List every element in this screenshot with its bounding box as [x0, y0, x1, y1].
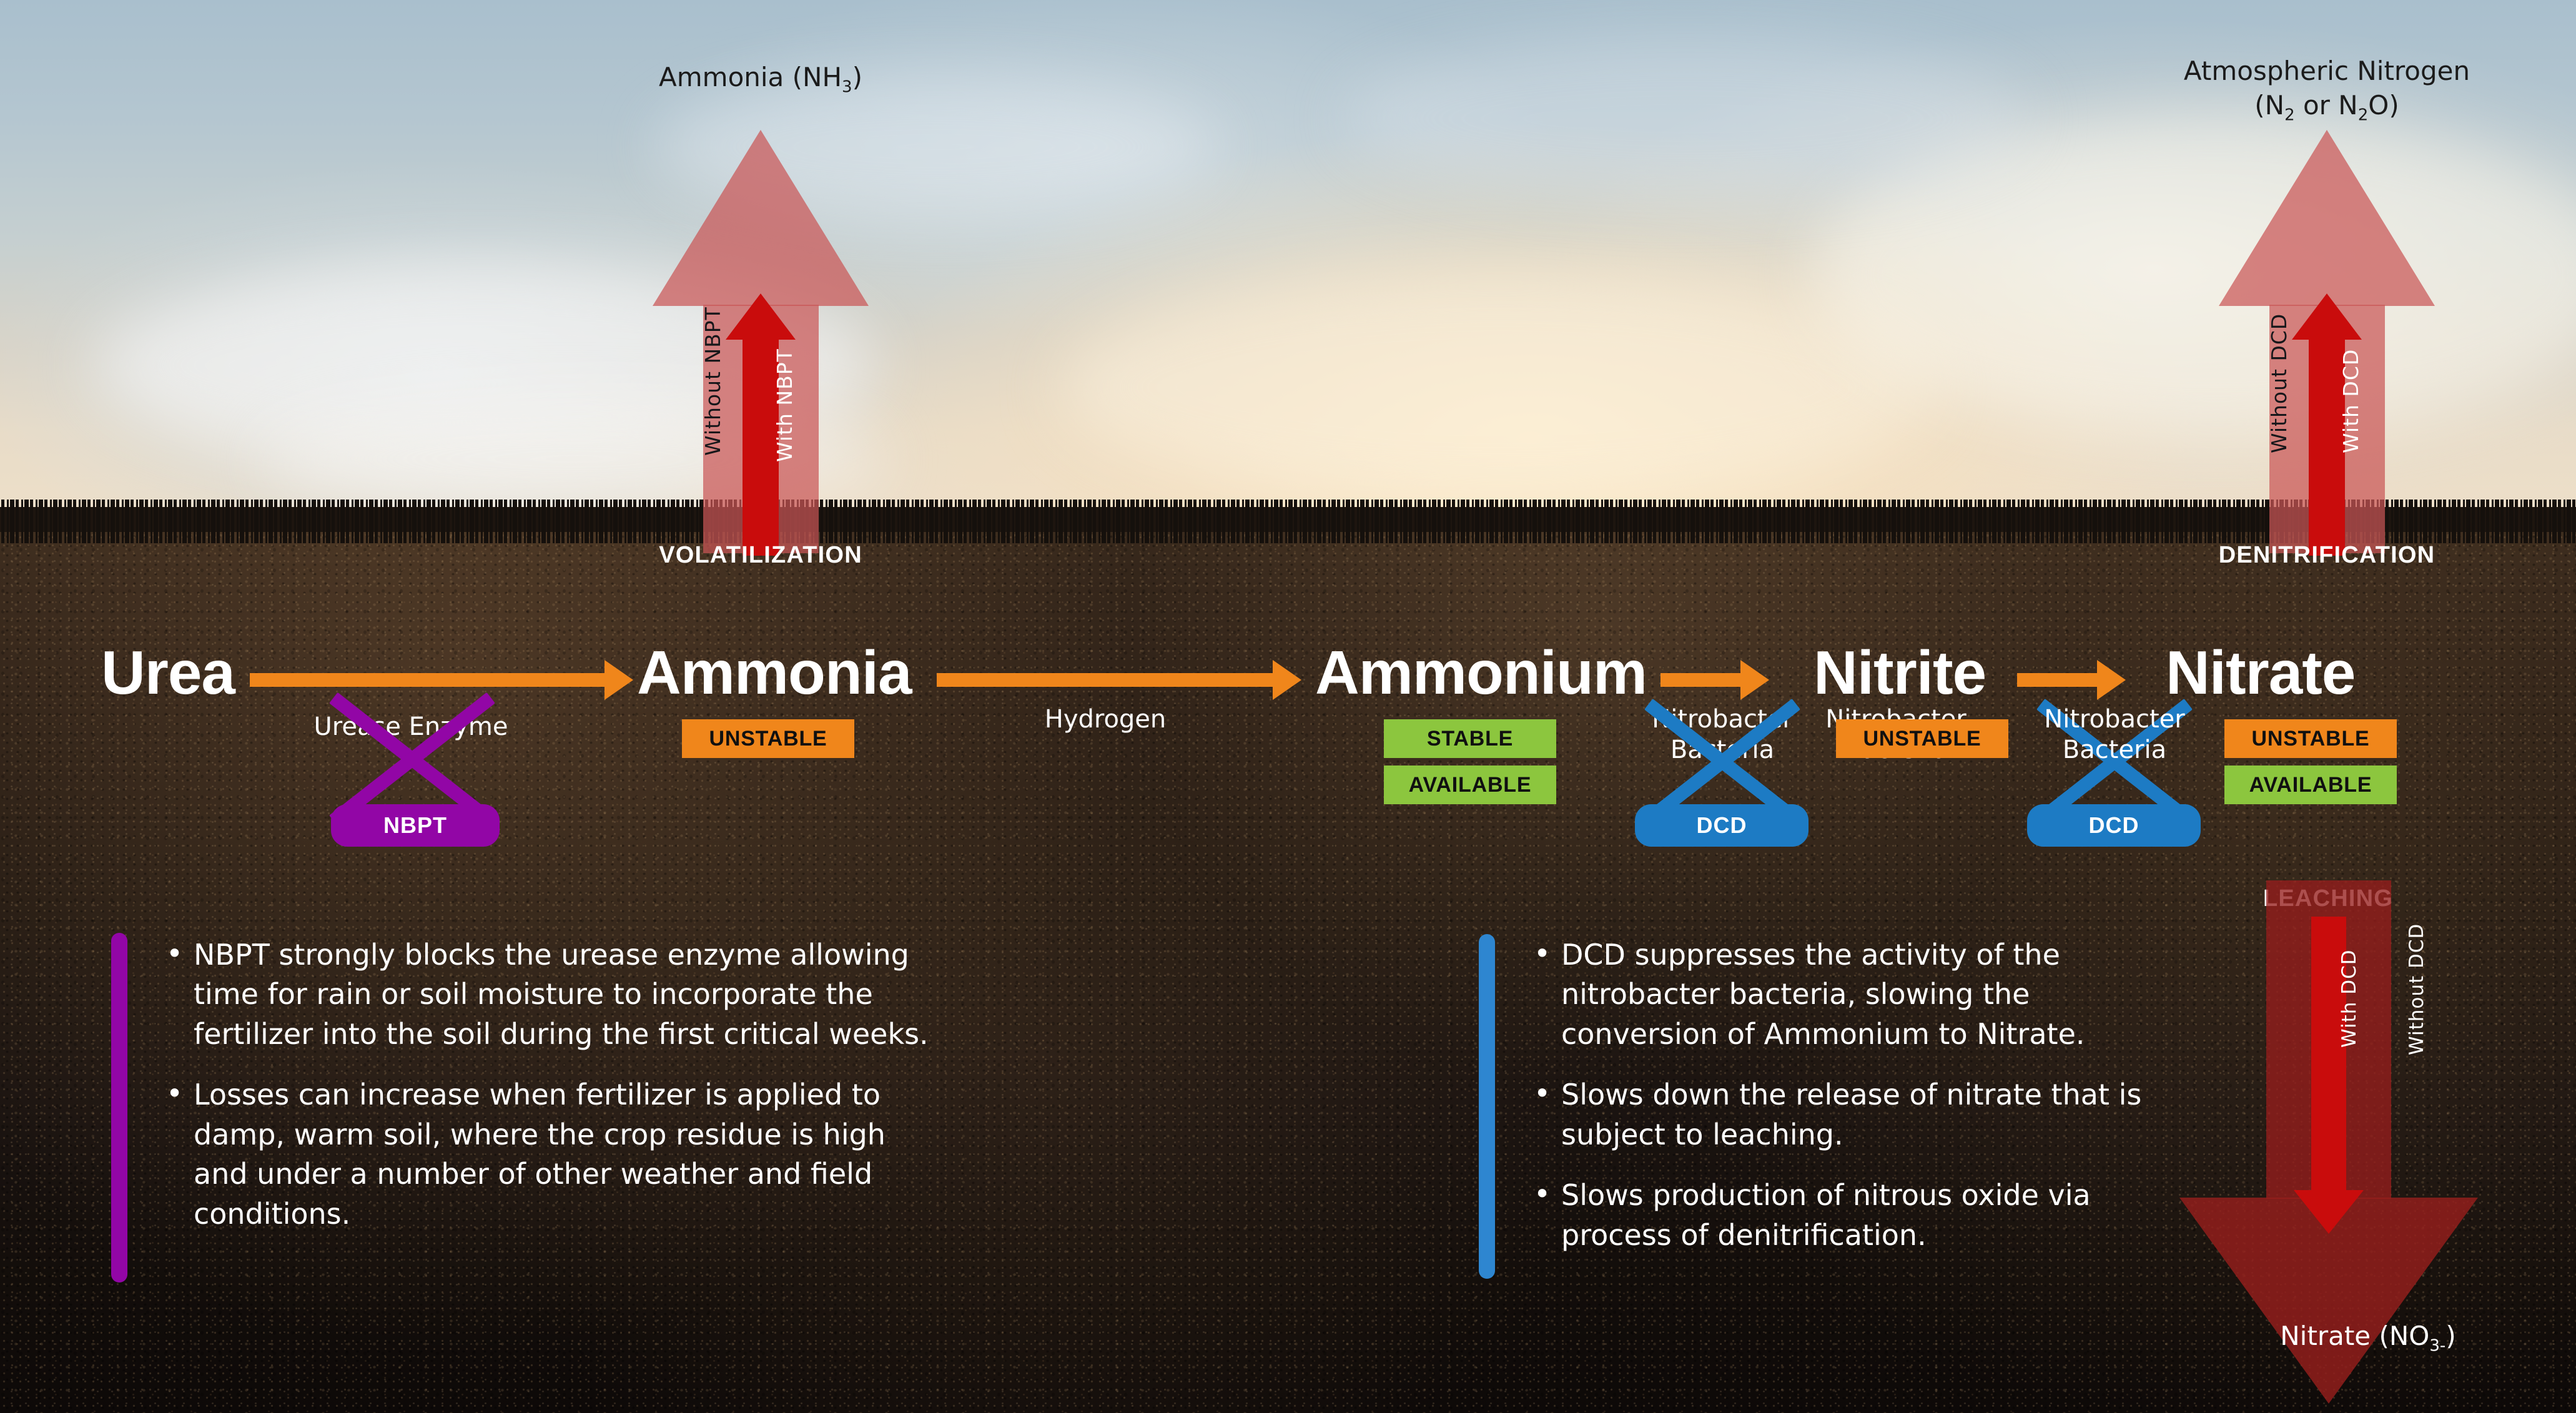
denitrification-pale-arrow-head	[2219, 130, 2435, 306]
list-item: Slows production of nitrous oxide via pr…	[1529, 1176, 2147, 1255]
nitrobacter-label-2-text: Nitrobacter Bacteria	[2021, 704, 2208, 766]
tag-nitrate-unstable: UNSTABLE	[2224, 719, 2397, 758]
chem-ammonia: Ammonia	[637, 642, 912, 703]
tag-nitrate-available: AVAILABLE	[2224, 766, 2397, 804]
leaching-with-dcd-label: With DCD	[2338, 949, 2361, 1048]
hydrogen-label: Hydrogen	[1005, 704, 1205, 735]
flow-arrow-ammonia-ammonium	[937, 673, 1274, 687]
flow-arrow-urea-ammonia	[250, 673, 606, 687]
list-item: Losses can increase when fertilizer is a…	[161, 1075, 942, 1234]
leaching-red-arrow-head	[2294, 1190, 2364, 1234]
denitrification-process-label: DENITRIFICATION	[2139, 542, 2514, 569]
nbpt-pill: NBPT	[331, 804, 500, 847]
tag-nitrite-unstable: UNSTABLE	[1836, 719, 2008, 758]
ammonia-sky-label: Ammonia (NH3)	[605, 60, 917, 98]
volatilization-without-nbpt-label: Without NBPT	[701, 307, 725, 456]
atmospheric-nitrogen-sky-label: Atmospheric Nitrogen (N2 or N2O)	[2139, 54, 2514, 126]
tag-ammonium-stable: STABLE	[1384, 719, 1556, 758]
chem-urea: Urea	[101, 642, 235, 703]
cloud	[1062, 268, 1936, 506]
volatilization-process-label: VOLATILIZATION	[573, 542, 948, 569]
tag-ammonia-unstable: UNSTABLE	[682, 719, 854, 758]
list-item: Slows down the release of nitrate that i…	[1529, 1075, 2147, 1155]
right-notes-accent-bar	[1479, 934, 1495, 1279]
dcd-pill-2: DCD	[2027, 804, 2201, 847]
dcd-pill-1: DCD	[1635, 804, 1809, 847]
flow-arrow-nitrite-nitrate	[2017, 673, 2098, 687]
denitrification-with-dcd-label: With DCD	[2339, 349, 2363, 453]
list-item: NBPT strongly blocks the urease enzyme a…	[161, 935, 942, 1054]
nitrate-bottom-label: Nitrate (NO3-)	[2193, 1319, 2543, 1357]
right-notes-list: DCD suppresses the activity of the nitro…	[1529, 935, 2147, 1255]
volatilization-with-nbpt-label: With NBPT	[772, 348, 797, 462]
volatilization-pale-arrow-head	[653, 130, 869, 306]
flow-arrowhead-urea-ammonia	[605, 660, 633, 700]
cloud	[1343, 37, 2030, 200]
flow-arrowhead-ammonia-ammonium	[1273, 660, 1301, 700]
denitrification-without-dcd-label: Without DCD	[2267, 313, 2291, 453]
chem-ammonium: Ammonium	[1315, 642, 1647, 703]
left-notes-accent-bar	[111, 933, 127, 1283]
volatilization-red-arrow-head	[726, 293, 796, 340]
flow-arrow-ammonium-nitrite	[1661, 673, 1742, 687]
soil-horizon-jagged	[0, 500, 2576, 543]
chem-nitrite: Nitrite	[1814, 642, 1986, 703]
list-item: DCD suppresses the activity of the nitro…	[1529, 935, 2147, 1054]
denitrification-red-arrow-head	[2292, 293, 2362, 340]
leaching-without-dcd-label: Without DCD	[2406, 923, 2428, 1055]
left-notes-list: NBPT strongly blocks the urease enzyme a…	[161, 935, 942, 1234]
nitrogen-cycle-infographic: Ammonia (NH3) Without NBPT With NBPT VOL…	[0, 0, 2576, 1413]
tag-ammonium-available: AVAILABLE	[1384, 766, 1556, 804]
